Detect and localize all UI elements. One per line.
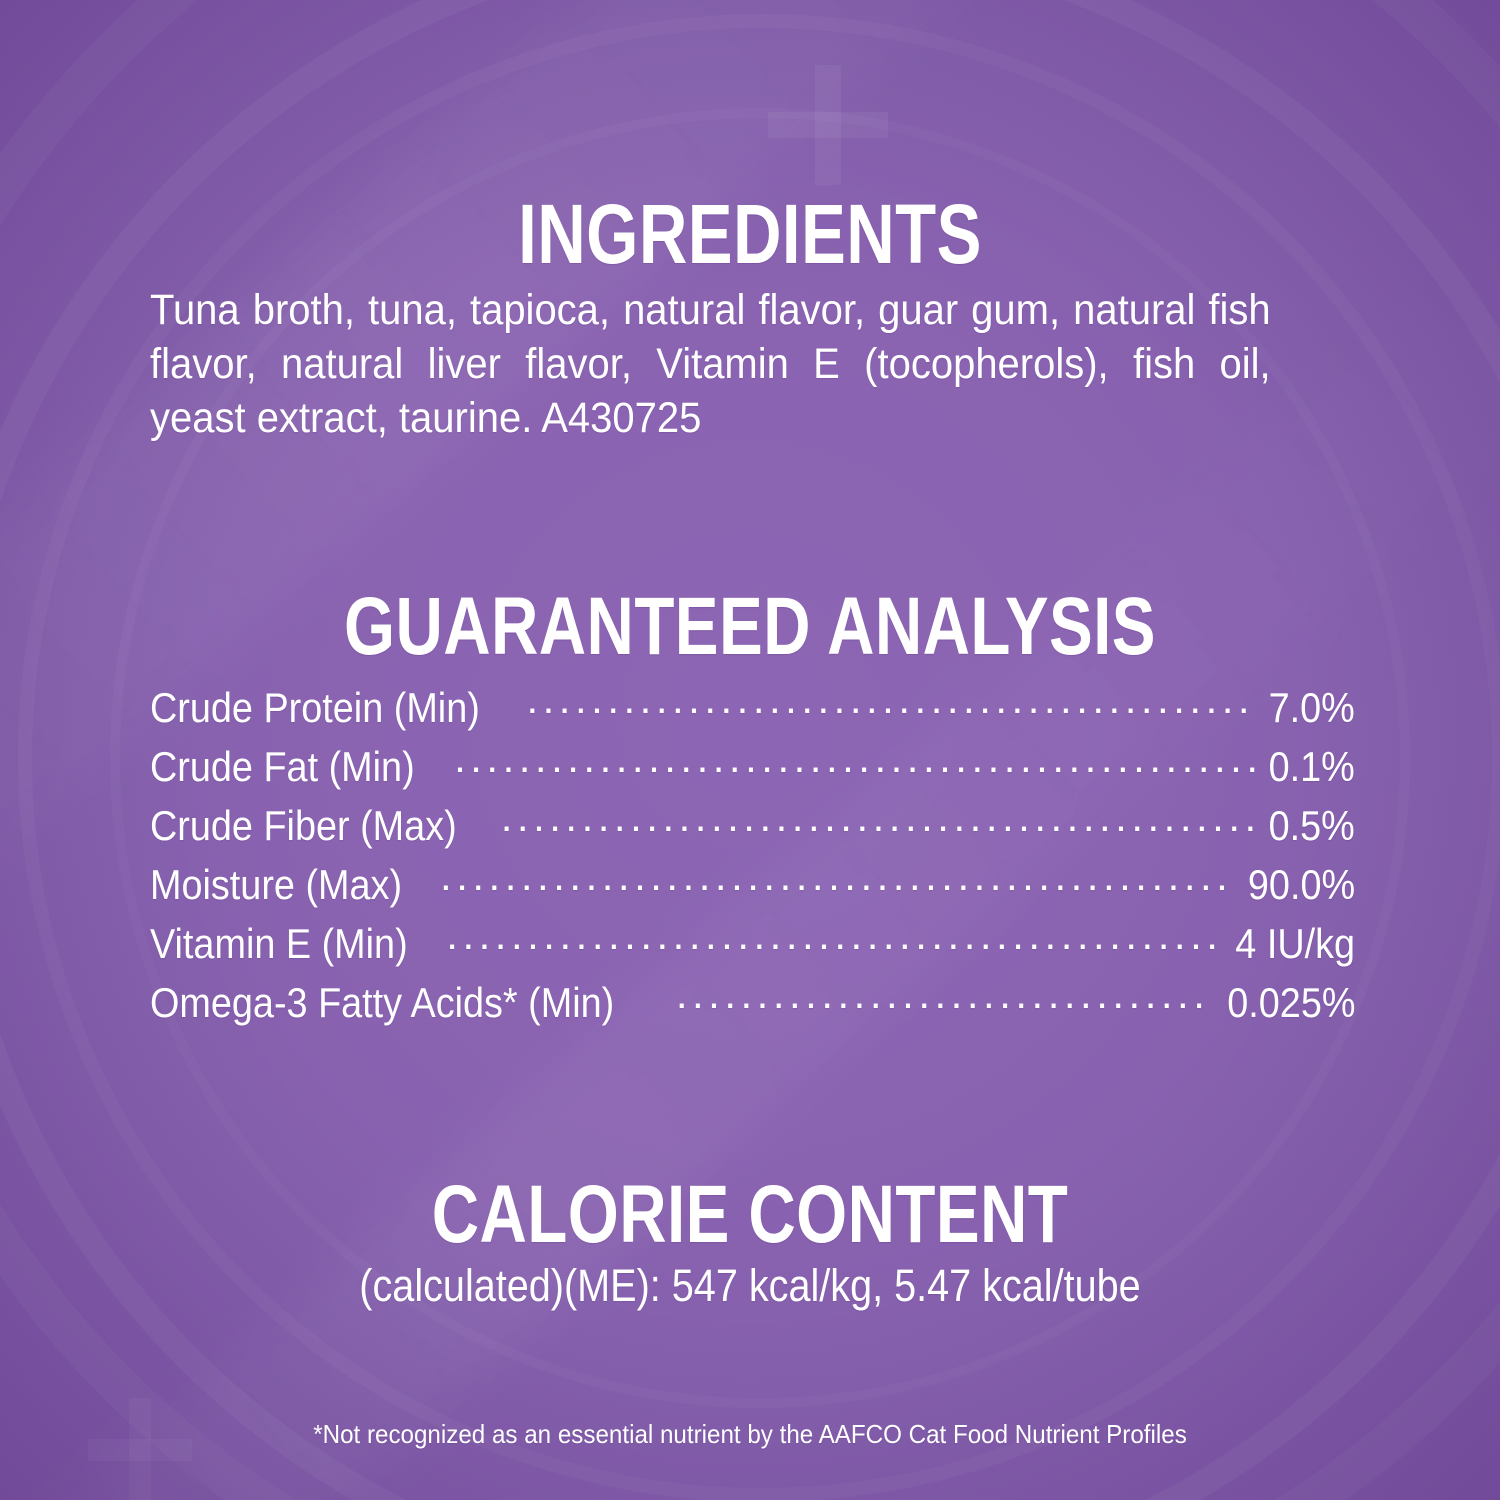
- table-row: Crude Fiber (Max) 0.5%: [150, 794, 1355, 853]
- nutrient-label: Crude Protein (Min): [150, 685, 480, 731]
- dot-leader: [454, 735, 1255, 781]
- guaranteed-analysis-table: Crude Protein (Min) 7.0% Crude Fat (Min)…: [150, 676, 1355, 1030]
- nutrient-value: 0.1%: [1269, 744, 1355, 790]
- dot-leader: [526, 676, 1255, 722]
- nutrient-value: 7.0%: [1269, 685, 1355, 731]
- nutrient-label: Omega-3 Fatty Acids* (Min): [150, 980, 614, 1026]
- label-content: INGREDIENTS Tuna broth, tuna, tapioca, n…: [0, 0, 1500, 1500]
- table-row: Omega-3 Fatty Acids* (Min) 0.025%: [150, 971, 1355, 1030]
- nutrient-value: 0.5%: [1269, 803, 1355, 849]
- dot-leader: [501, 794, 1256, 840]
- nutrient-label: Crude Fiber (Max): [150, 803, 457, 849]
- guaranteed-analysis-heading: GUARANTEED ANALYSIS: [150, 586, 1350, 668]
- table-row: Crude Protein (Min) 7.0%: [150, 676, 1355, 735]
- aafco-footnote: *Not recognized as an essential nutrient…: [53, 1418, 1448, 1450]
- nutrient-label: Moisture (Max): [150, 862, 402, 908]
- calorie-content-heading: CALORIE CONTENT: [150, 1174, 1350, 1256]
- ingredients-text-value: Tuna broth, tuna, tapioca, natural flavo…: [150, 286, 1271, 442]
- product-label-panel: INGREDIENTS Tuna broth, tuna, tapioca, n…: [0, 0, 1500, 1500]
- dot-leader: [446, 912, 1218, 958]
- nutrient-value: 90.0%: [1248, 862, 1355, 908]
- calorie-content-subtitle: (calculated)(ME): 547 kcal/kg, 5.47 kcal…: [90, 1258, 1410, 1314]
- ingredients-text: Tuna broth, tuna, tapioca, natural flavo…: [150, 283, 1271, 445]
- nutrient-value: 4 IU/kg: [1235, 921, 1355, 967]
- dot-leader: [676, 971, 1209, 1017]
- table-row: Vitamin E (Min) 4 IU/kg: [150, 912, 1355, 971]
- table-row: Moisture (Max) 90.0%: [150, 853, 1355, 912]
- nutrient-value: 0.025%: [1227, 980, 1355, 1026]
- dot-leader: [440, 853, 1232, 899]
- ingredients-heading: INGREDIENTS: [150, 192, 1350, 276]
- nutrient-label: Vitamin E (Min): [150, 921, 408, 967]
- nutrient-label: Crude Fat (Min): [150, 744, 415, 790]
- table-row: Crude Fat (Min) 0.1%: [150, 735, 1355, 794]
